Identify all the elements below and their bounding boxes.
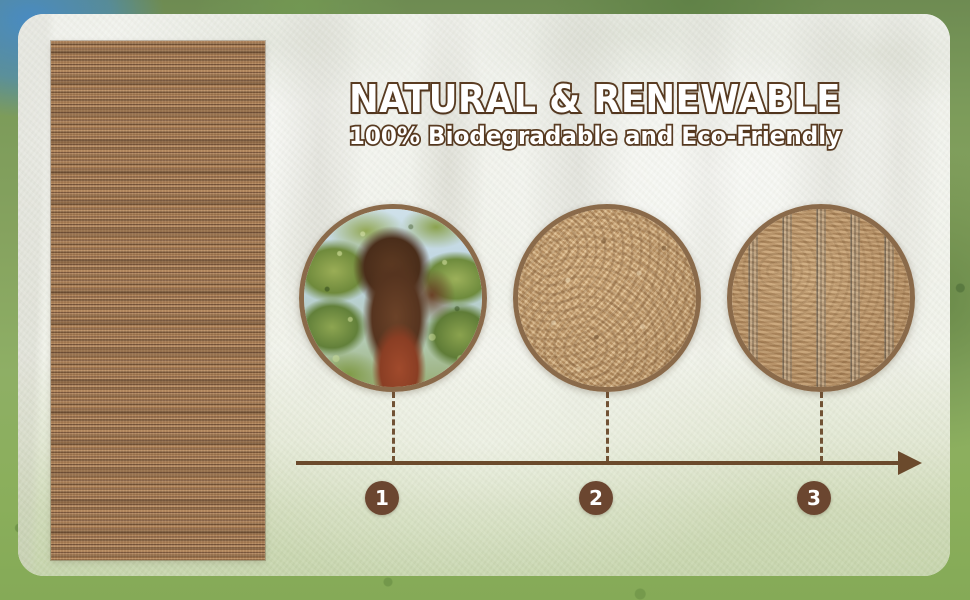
step-3-connector: [820, 392, 823, 462]
timeline-arrow-head-icon: [898, 451, 922, 475]
step-2-circle: [513, 204, 701, 392]
headings-group: NATURAL & RENEWABLE 100% Biodegradable a…: [300, 78, 890, 150]
promo-banner: NATURAL & RENEWABLE 100% Biodegradable a…: [0, 0, 970, 600]
step-3-marker: 3: [797, 481, 831, 515]
timeline-arrow-line: [296, 461, 900, 465]
page-title: NATURAL & RENEWABLE: [321, 78, 870, 120]
step-1-marker: 1: [365, 481, 399, 515]
cork-oak-tree-icon: [304, 209, 482, 387]
page-subtitle: 100% Biodegradable and Eco-Friendly: [312, 122, 878, 150]
granulated-cork-icon: [518, 209, 696, 387]
step-3-circle: [727, 204, 915, 392]
woven-cork-mat-icon: [732, 209, 910, 387]
step-2-connector: [606, 392, 609, 462]
step-1-connector: [392, 392, 395, 462]
step-2-marker: 2: [579, 481, 613, 515]
step-1-circle: [299, 204, 487, 392]
product-mat-image: [51, 41, 265, 560]
